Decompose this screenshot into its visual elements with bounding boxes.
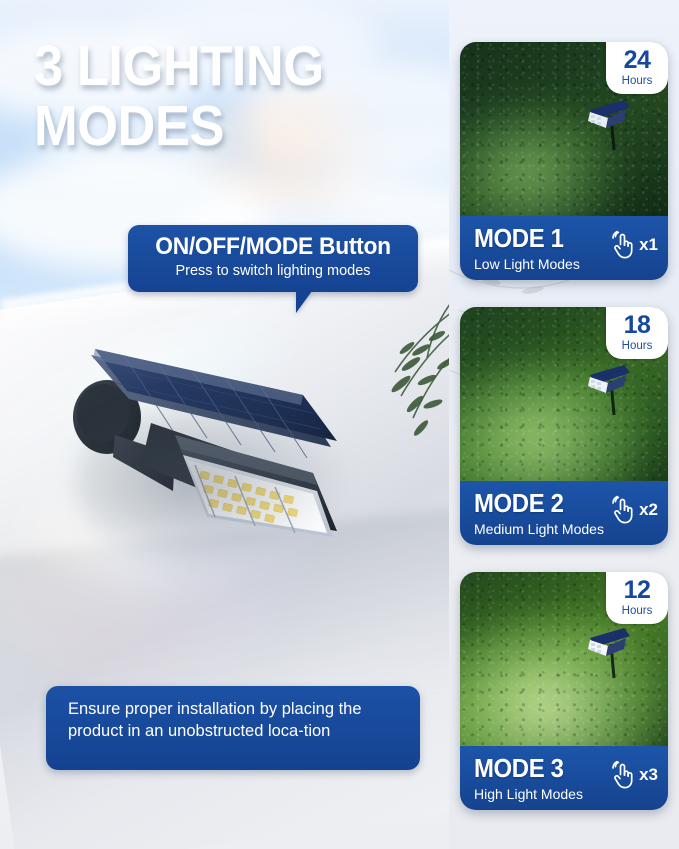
mode-card[interactable]: 24 Hours MODE 1 Low Light Modes xyxy=(460,42,668,280)
hand-tap-icon xyxy=(608,230,636,260)
lamp-in-photo-icon xyxy=(578,618,642,684)
callout-title: ON/OFF/MODE Button xyxy=(135,233,411,261)
mode-card[interactable]: 18 Hours MODE 2 Medium Light Modes xyxy=(460,307,668,545)
hours-label: Hours xyxy=(622,76,653,88)
press-count: x1 xyxy=(639,235,658,255)
mode-card[interactable]: 12 Hours MODE 3 High Light Modes xyxy=(460,572,668,810)
product-scene: 3 LIGHTING MODES ON/OFF/MODE Button Pres… xyxy=(0,0,449,849)
installation-note-text: Ensure proper installation by placing th… xyxy=(46,686,420,743)
title-line-1: 3 LIGHTING xyxy=(34,34,324,98)
lamp-in-photo-icon xyxy=(578,90,642,156)
hand-tap-icon xyxy=(608,760,636,790)
callout-pointer-icon xyxy=(296,291,322,313)
press-count-group: x2 xyxy=(608,495,658,525)
mode-button-callout: ON/OFF/MODE Button Press to switch light… xyxy=(128,225,418,292)
hours-value: 24 xyxy=(624,48,651,73)
installation-note-box: Ensure proper installation by placing th… xyxy=(46,686,420,770)
press-count: x3 xyxy=(639,765,658,785)
press-count-group: x1 xyxy=(608,230,658,260)
hand-tap-icon xyxy=(608,495,636,525)
lamp-in-photo-icon xyxy=(578,355,642,421)
mode-cards-column: 24 Hours MODE 1 Low Light Modes xyxy=(449,0,679,849)
hours-badge: 12 Hours xyxy=(606,572,668,624)
title-line-2: MODES xyxy=(34,100,384,154)
mode-title: MODE 3 xyxy=(474,753,564,784)
hours-value: 18 xyxy=(624,313,651,338)
mode-subtitle: Medium Light Modes xyxy=(474,521,604,537)
press-count-group: x3 xyxy=(608,760,658,790)
hours-label: Hours xyxy=(622,341,653,353)
mode-subtitle: High Light Modes xyxy=(474,786,583,802)
press-count: x2 xyxy=(639,500,658,520)
solar-wall-light-product xyxy=(55,305,395,575)
callout-subtitle: Press to switch lighting modes xyxy=(128,263,418,279)
mode-footer: MODE 3 High Light Modes x3 xyxy=(460,746,668,810)
infographic-root: 3 LIGHTING MODES ON/OFF/MODE Button Pres… xyxy=(0,0,679,849)
hours-value: 12 xyxy=(624,578,651,603)
hours-label: Hours xyxy=(622,606,653,618)
mode-title: MODE 1 xyxy=(474,223,564,254)
mode-footer: MODE 1 Low Light Modes x1 xyxy=(460,216,668,280)
page-title: 3 LIGHTING MODES xyxy=(34,40,384,153)
hours-badge: 18 Hours xyxy=(606,307,668,359)
mode-footer: MODE 2 Medium Light Modes x2 xyxy=(460,481,668,545)
mode-title: MODE 2 xyxy=(474,488,564,519)
mode-subtitle: Low Light Modes xyxy=(474,256,580,272)
hours-badge: 24 Hours xyxy=(606,42,668,94)
